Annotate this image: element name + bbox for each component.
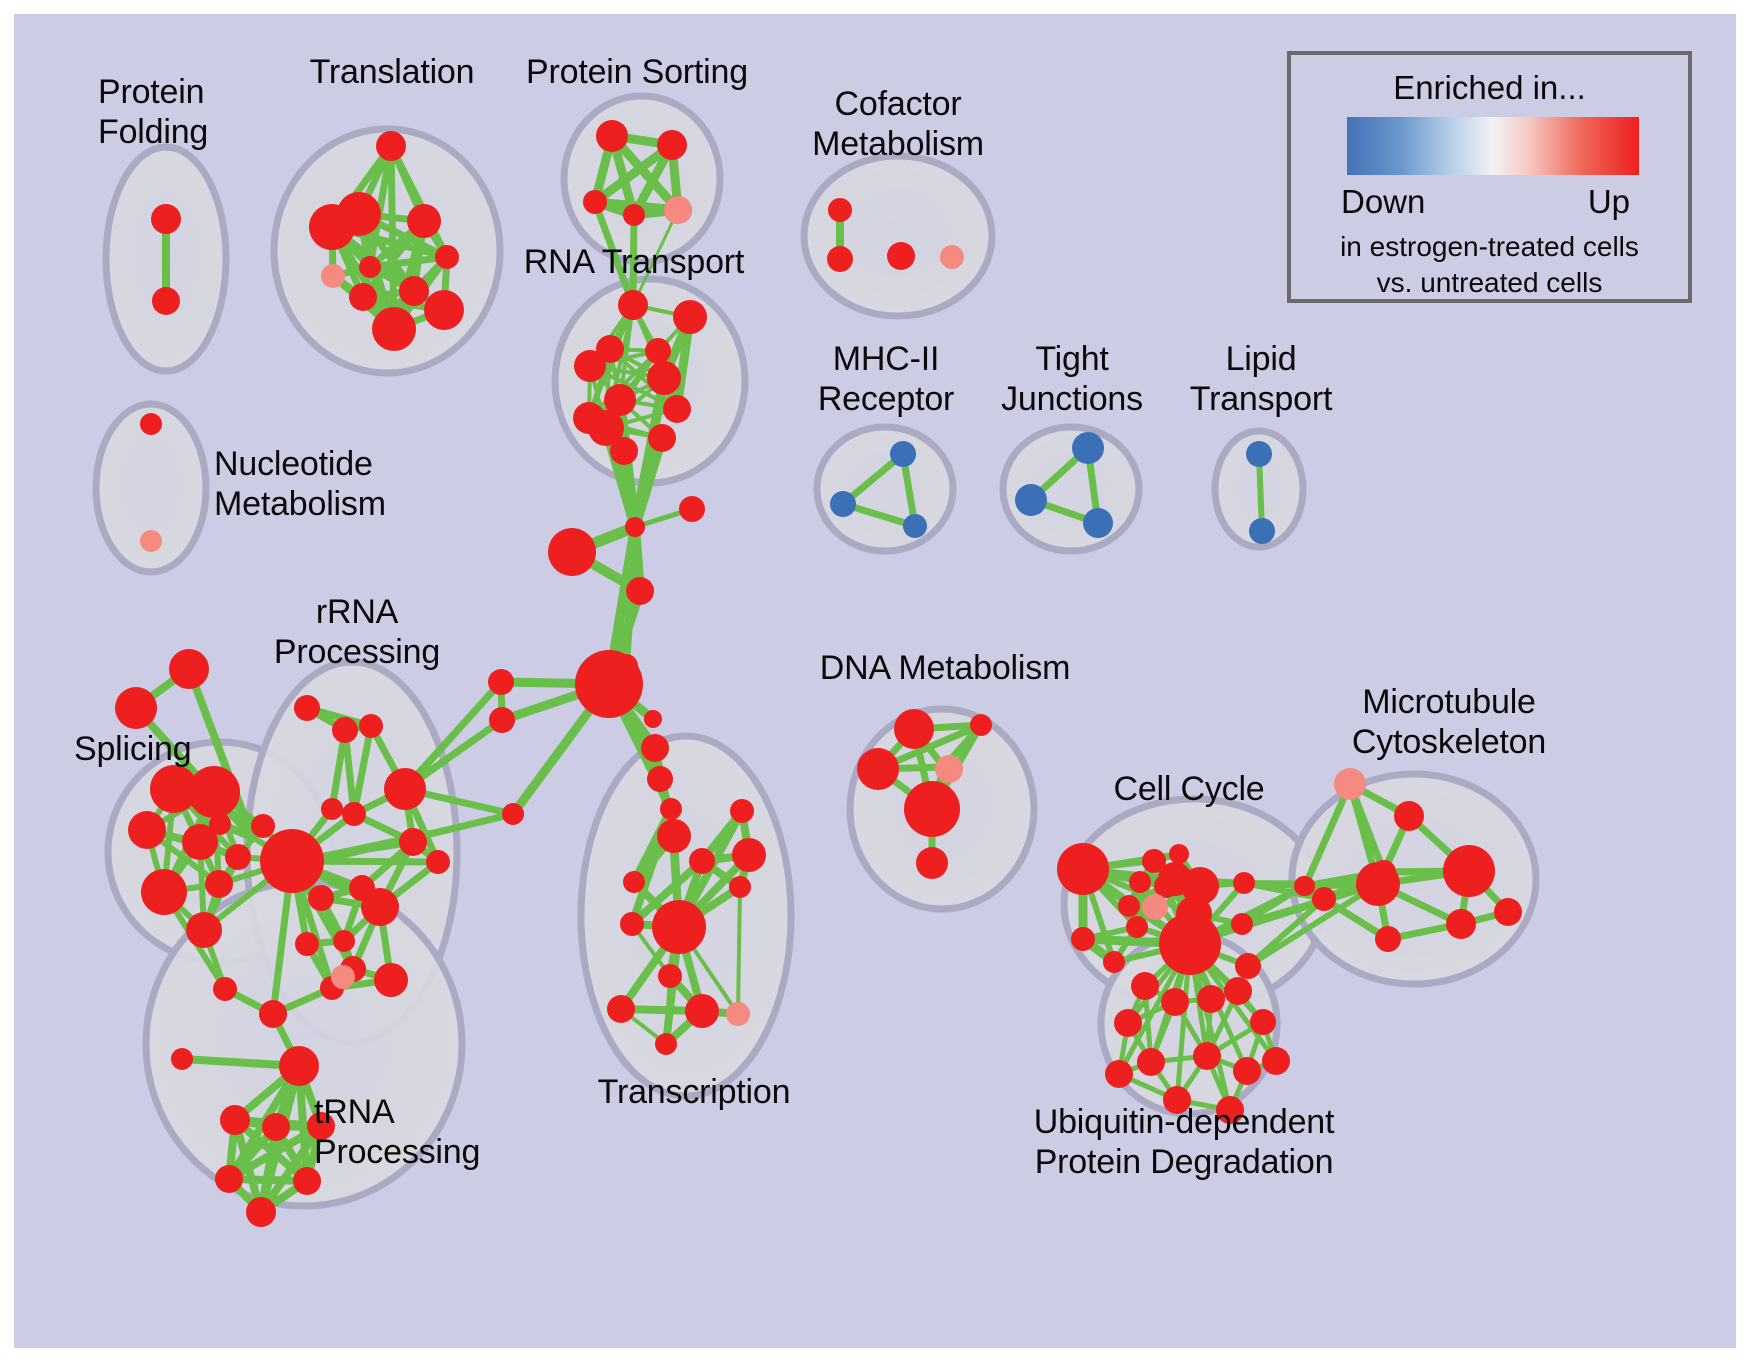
legend-title: Enriched in... [1291, 69, 1688, 107]
cluster-label-rrna-processing: rRNA Processing [257, 592, 457, 672]
cluster-label-rna-transport: RNA Transport [519, 242, 749, 282]
cluster-label-protein-folding: Protein Folding [98, 72, 278, 152]
legend-low-label: Down [1341, 183, 1425, 221]
color-legend: Enriched in... Down Up in estrogen-treat… [1287, 51, 1692, 303]
legend-high-label: Up [1588, 183, 1630, 221]
cluster-label-protein-sorting: Protein Sorting [512, 52, 762, 92]
cluster-label-mhc-ii-receptor: MHC-II Receptor [798, 339, 974, 419]
network-plot-area: Protein Folding Translation Protein Sort… [14, 14, 1736, 1348]
cluster-label-transcription: Transcription [574, 1072, 814, 1112]
cluster-label-cofactor-metabolism: Cofactor Metabolism [798, 84, 998, 164]
figure-canvas: Protein Folding Translation Protein Sort… [0, 0, 1750, 1360]
legend-subtitle-line2: vs. untreated cells [1291, 267, 1688, 299]
hull-cofactor [804, 156, 992, 316]
legend-gradient-bar [1347, 117, 1639, 175]
cluster-label-tight-junctions: Tight Junctions [980, 339, 1164, 419]
cluster-label-cell-cycle: Cell Cycle [1099, 769, 1279, 809]
cluster-label-splicing: Splicing [74, 729, 234, 769]
cluster-label-dna-metabolism: DNA Metabolism [810, 648, 1080, 688]
cluster-label-translation: Translation [292, 52, 492, 92]
hull-protein-sorting [564, 96, 720, 262]
cluster-label-microtubule-cytoskeleton: Microtubule Cytoskeleton [1304, 682, 1594, 762]
cluster-label-nucleotide-metabolism: Nucleotide Metabolism [214, 444, 414, 524]
cluster-label-lipid-transport: Lipid Transport [1172, 339, 1350, 419]
cluster-label-ubiquitin-protein-degradation: Ubiquitin-dependent Protein Degradation [984, 1102, 1384, 1182]
cluster-label-trna-processing: tRNA Processing [314, 1092, 524, 1172]
legend-subtitle-line1: in estrogen-treated cells [1291, 231, 1688, 263]
hull-mhcii [817, 427, 953, 551]
